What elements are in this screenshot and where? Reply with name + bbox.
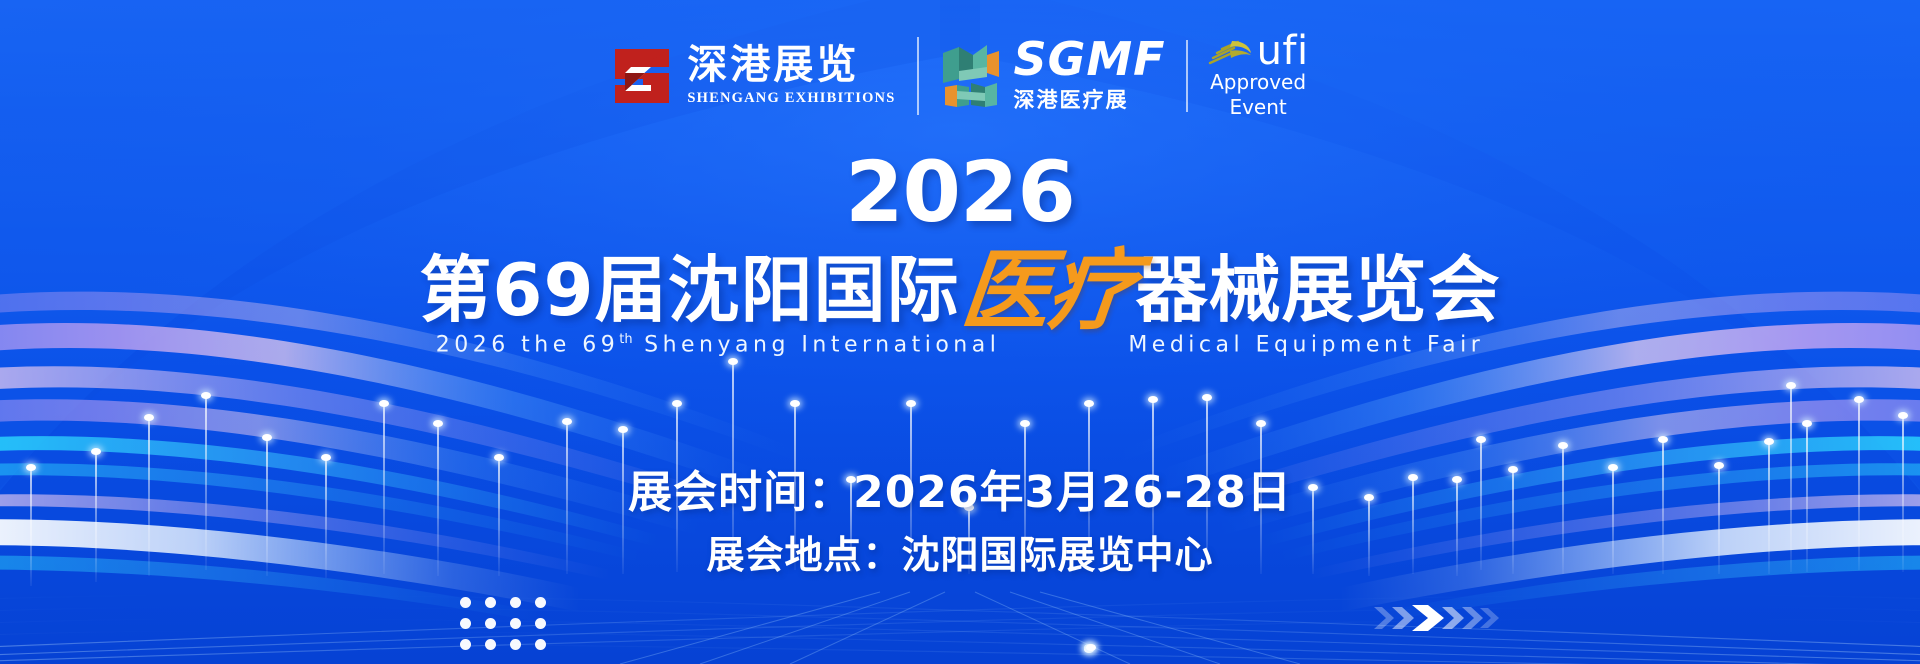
perspective-grid [0, 595, 1920, 664]
dot-grid-decoration [460, 597, 547, 651]
event-headline: 第69届沈阳国际 医疗 器械展览会 [0, 240, 1920, 330]
sgmf-logo[interactable]: SGMF 深港医疗展 [941, 38, 1165, 115]
logo-divider-1 [917, 37, 919, 115]
ufi-wordmark: ufi [1257, 34, 1309, 69]
logo-bar: 深港展览 SHENGANG EXHIBITIONS SGMF 深港医疗展 [0, 34, 1920, 118]
ufi-swoosh-icon [1208, 39, 1254, 69]
event-date-line: 展会时间：2026年3月26-28日 [0, 465, 1920, 521]
shengang-en-name: SHENGANG EXHIBITIONS [687, 90, 895, 107]
subtitle-pre: 2026 the 69 [436, 332, 620, 357]
headline-part-2: 器械展览会 [1136, 252, 1501, 330]
headline-part-1: 第69届沈阳国际 [419, 252, 959, 330]
chevron-arrows-icon [1372, 598, 1500, 638]
event-year: 2026 [0, 150, 1920, 234]
ufi-logo[interactable]: ufi Approved Event [1208, 34, 1309, 118]
event-venue-line: 展会地点：沈阳国际展览中心 [0, 531, 1920, 580]
shengang-cn-name: 深港展览 [687, 45, 895, 86]
ufi-event-label: Event [1229, 96, 1286, 118]
shengang-s-mark-icon [611, 43, 673, 109]
shengang-logo[interactable]: 深港展览 SHENGANG EXHIBITIONS [611, 43, 895, 109]
subtitle-post: Medical Equipment Fair [1128, 332, 1484, 357]
sgmf-blocks-mark-icon [941, 43, 1001, 109]
headline-highlight: 医疗 [957, 246, 1138, 334]
ufi-approved-label: Approved [1210, 71, 1306, 93]
event-banner: 深港展览 SHENGANG EXHIBITIONS SGMF 深港医疗展 [0, 0, 1920, 664]
chevron-decoration [1372, 598, 1500, 638]
title-block: 2026 第69届沈阳国际 医疗 器械展览会 2026 the 69th She… [0, 150, 1920, 357]
subtitle-mid: Shenyang International [633, 332, 1001, 357]
sgmf-cn-name: 深港医疗展 [1013, 84, 1165, 114]
event-info: 展会时间：2026年3月26-28日 展会地点：沈阳国际展览中心 [0, 465, 1920, 580]
subtitle-ordinal: th [619, 332, 632, 347]
sgmf-en-name: SGMF [1013, 38, 1165, 82]
logo-divider-2 [1186, 40, 1188, 112]
